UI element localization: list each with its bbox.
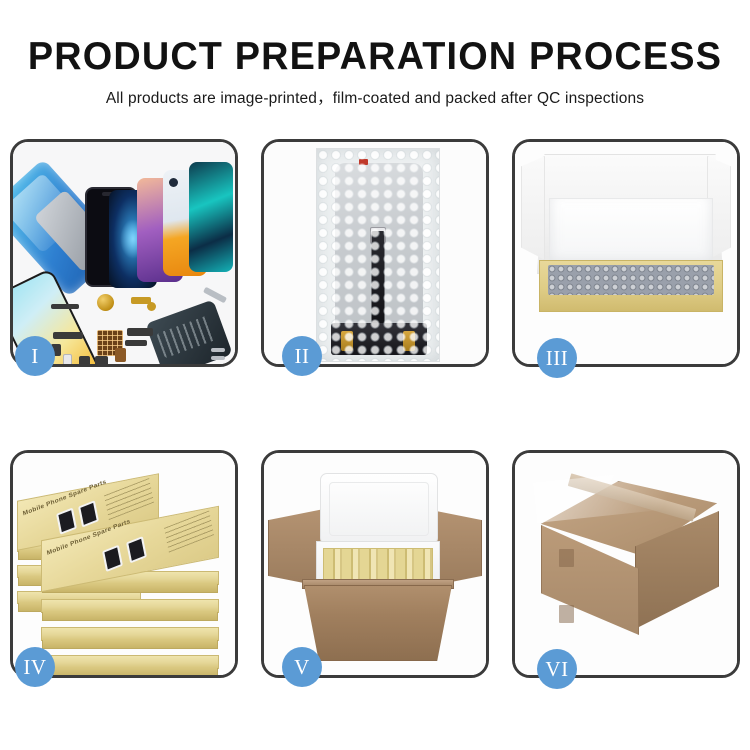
step-badge-2: II <box>282 336 322 376</box>
antenna-part <box>115 348 126 362</box>
phone-teal-wave-display <box>189 162 233 272</box>
page-title: PRODUCT PREPARATION PROCESS <box>11 36 739 78</box>
step-1-image <box>13 142 235 364</box>
process-step-panel-3: III <box>512 139 740 367</box>
screw-part-a <box>211 348 225 352</box>
box-artwork-thumb-b <box>78 500 99 527</box>
page-subtitle: All products are image-printed，film-coat… <box>0 86 750 108</box>
step-badge-6: VI <box>537 649 577 689</box>
box-spec-lines-front <box>164 510 214 552</box>
bubble-wrap-bag <box>316 148 440 362</box>
box-artwork-thumb-d <box>126 536 147 563</box>
process-step-panel-6: VI <box>512 450 740 678</box>
step-badge-4: IV <box>15 647 55 687</box>
step-2-image <box>264 142 486 364</box>
process-step-panel-5: V <box>261 450 489 678</box>
process-step-grid: I II <box>10 139 740 678</box>
carton-seam-tab-a <box>559 549 574 567</box>
foam-box-lid <box>320 473 438 545</box>
screw-part-b <box>211 356 225 360</box>
box-spec-lines-top <box>104 478 154 520</box>
bracket-part-b <box>79 356 90 364</box>
step-badge-5: V <box>282 647 322 687</box>
carton-body <box>304 585 452 661</box>
camera-module-part <box>95 356 108 364</box>
carton-seam-tab-b <box>559 605 574 623</box>
kraft-box-tray <box>539 260 723 312</box>
retail-box-stack-item <box>41 627 219 641</box>
process-step-panel-4: Mobile Phone Spare Parts Mobile Phone Sp… <box>10 450 238 678</box>
sim-tray-part <box>63 354 72 364</box>
step-3-image <box>515 142 737 364</box>
step-badge-1: I <box>15 336 55 376</box>
box-artwork-thumb-a <box>56 508 77 535</box>
process-step-panel-1: I <box>10 139 238 367</box>
header: PRODUCT PREPARATION PROCESS All products… <box>0 36 750 108</box>
flex-cable-part-b <box>127 328 153 336</box>
bubble-wrapped-contents <box>548 265 714 295</box>
white-foam-sheet <box>549 198 713 268</box>
flex-cable-part-c <box>125 340 147 346</box>
vibration-motor-part <box>97 294 114 311</box>
bubble-texture-overlay <box>317 149 439 361</box>
box-artwork-thumb-c <box>102 545 123 572</box>
step-5-image <box>264 453 486 675</box>
process-step-panel-2: II <box>261 139 489 367</box>
retail-box-stack-item <box>41 599 219 613</box>
product-preparation-infographic: PRODUCT PREPARATION PROCESS All products… <box>0 0 750 750</box>
step-6-image <box>515 453 737 675</box>
retail-box-stack-item <box>41 655 219 669</box>
box-flap-left <box>521 156 545 260</box>
step-4-image: Mobile Phone Spare Parts Mobile Phone Sp… <box>13 453 235 675</box>
gold-button-part <box>147 302 156 311</box>
flex-cable-part-a <box>53 332 83 339</box>
speaker-mesh-part <box>51 304 79 309</box>
step-badge-3: III <box>537 338 577 378</box>
